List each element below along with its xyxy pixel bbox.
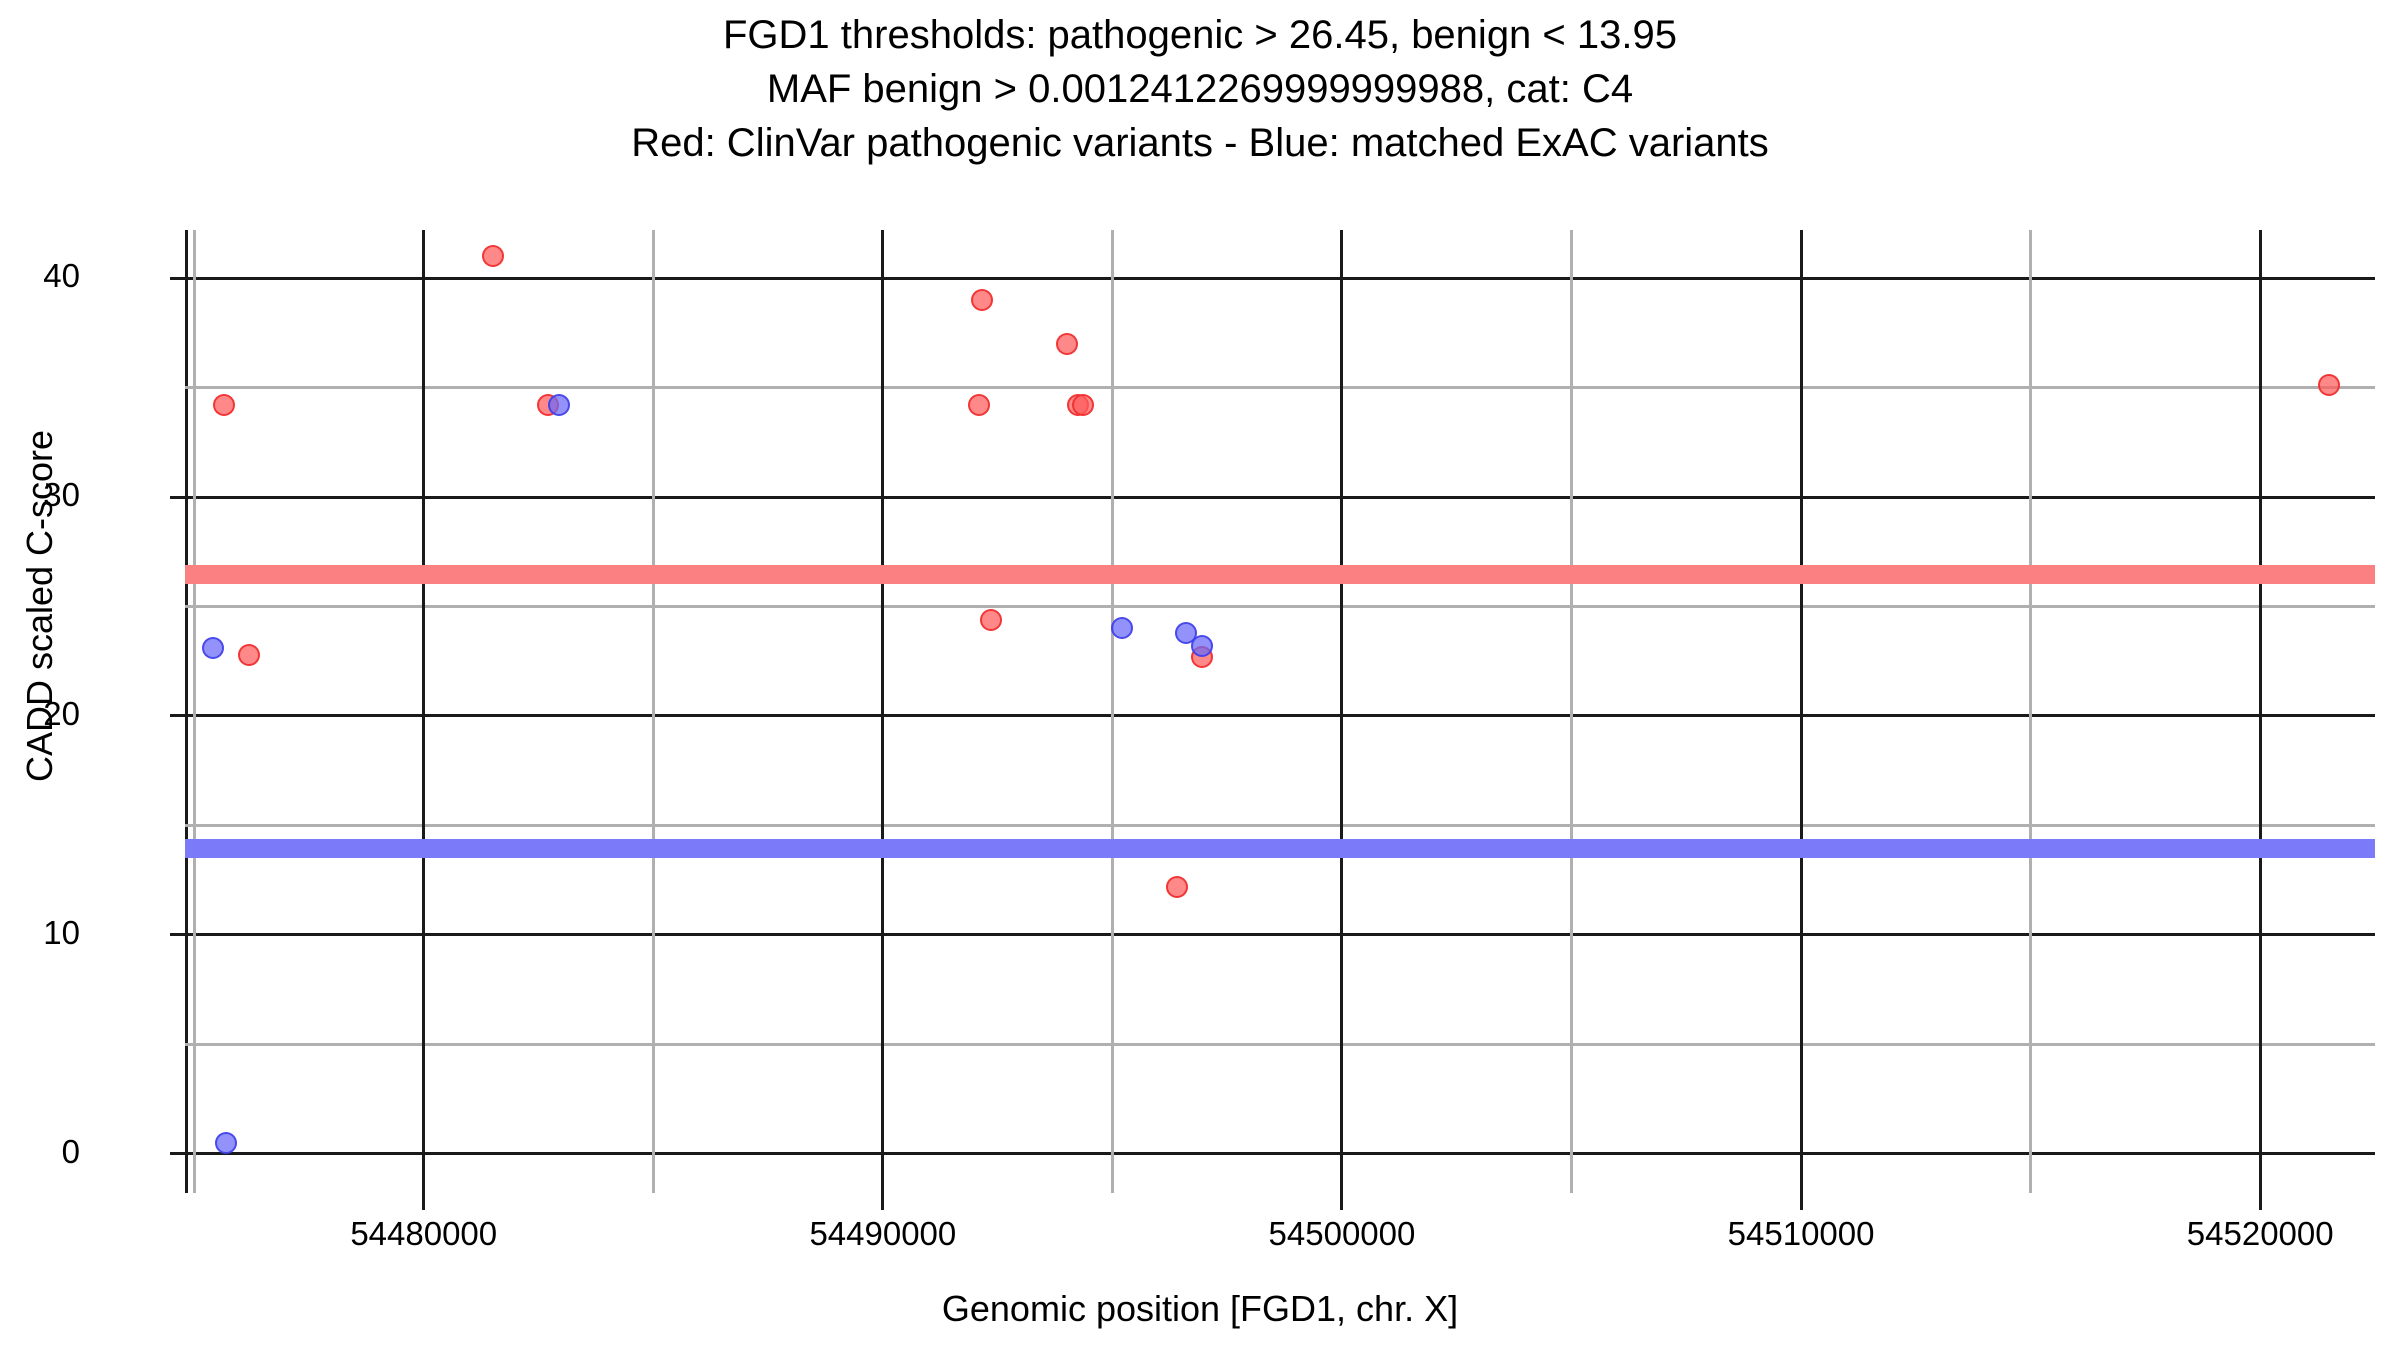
major-gridline-vertical (2259, 230, 2262, 1193)
minor-gridline-vertical (1111, 230, 1114, 1193)
title-line-3: Red: ClinVar pathogenic variants - Blue:… (0, 116, 2400, 170)
x-axis-tick (1340, 1193, 1343, 1210)
data-point-benign (215, 1132, 237, 1154)
minor-gridline-vertical (652, 230, 655, 1193)
x-axis-label: Genomic position [FGD1, chr. X] (0, 1288, 2400, 1330)
minor-gridline-horizontal (185, 605, 2375, 608)
x-axis-tick-label: 54480000 (264, 1215, 584, 1253)
data-point-pathogenic (968, 394, 990, 416)
data-point-pathogenic (238, 644, 260, 666)
x-axis-tick (422, 1193, 425, 1210)
data-point-pathogenic (1056, 333, 1078, 355)
major-gridline-vertical (881, 230, 884, 1193)
y-axis-tick-label: 0 (0, 1133, 80, 1171)
minor-gridline-horizontal (185, 1043, 2375, 1046)
plot-area (185, 230, 2375, 1193)
x-axis-tick-label: 54510000 (1641, 1215, 1961, 1253)
minor-gridline-vertical (1570, 230, 1573, 1193)
x-axis-tick (1800, 1193, 1803, 1210)
major-gridline-vertical (1800, 230, 1803, 1193)
major-gridline-horizontal (185, 277, 2375, 280)
chart-title: FGD1 thresholds: pathogenic > 26.45, ben… (0, 8, 2400, 170)
data-point-pathogenic (213, 394, 235, 416)
data-point-pathogenic (1072, 394, 1094, 416)
y-axis-tick (170, 496, 188, 499)
major-gridline-horizontal (185, 1152, 2375, 1155)
y-axis-tick (170, 1152, 188, 1155)
threshold-band-benign (185, 839, 2375, 858)
data-point-pathogenic (2318, 374, 2340, 396)
data-point-pathogenic (980, 609, 1002, 631)
chart-canvas: FGD1 thresholds: pathogenic > 26.45, ben… (0, 0, 2400, 1350)
major-gridline-vertical (1340, 230, 1343, 1193)
data-point-pathogenic (1166, 876, 1188, 898)
minor-gridline-vertical (2029, 230, 2032, 1193)
y-axis-tick (170, 277, 188, 280)
data-point-benign (202, 637, 224, 659)
x-axis-tick-label: 54520000 (2100, 1215, 2400, 1253)
data-point-pathogenic (971, 289, 993, 311)
data-point-benign (1191, 635, 1213, 657)
y-axis-tick (170, 933, 188, 936)
major-gridline-vertical (422, 230, 425, 1193)
x-axis-tick-label: 54500000 (1182, 1215, 1502, 1253)
major-gridline-horizontal (185, 933, 2375, 936)
major-gridline-horizontal (185, 496, 2375, 499)
data-point-benign (548, 394, 570, 416)
minor-gridline-horizontal (185, 386, 2375, 389)
minor-gridline-vertical (193, 230, 196, 1193)
title-line-2: MAF benign > 0.0012412269999999988, cat:… (0, 62, 2400, 116)
major-gridline-horizontal (185, 714, 2375, 717)
data-point-benign (1111, 617, 1133, 639)
x-axis-tick (2259, 1193, 2262, 1210)
x-axis-tick (881, 1193, 884, 1210)
minor-gridline-horizontal (185, 824, 2375, 827)
data-point-pathogenic (482, 245, 504, 267)
x-axis-tick-label: 54490000 (723, 1215, 1043, 1253)
y-axis-label: CADD scaled C-score (19, 206, 61, 1006)
y-axis-tick (170, 714, 188, 717)
threshold-band-pathogenic (185, 565, 2375, 584)
title-line-1: FGD1 thresholds: pathogenic > 26.45, ben… (0, 8, 2400, 62)
